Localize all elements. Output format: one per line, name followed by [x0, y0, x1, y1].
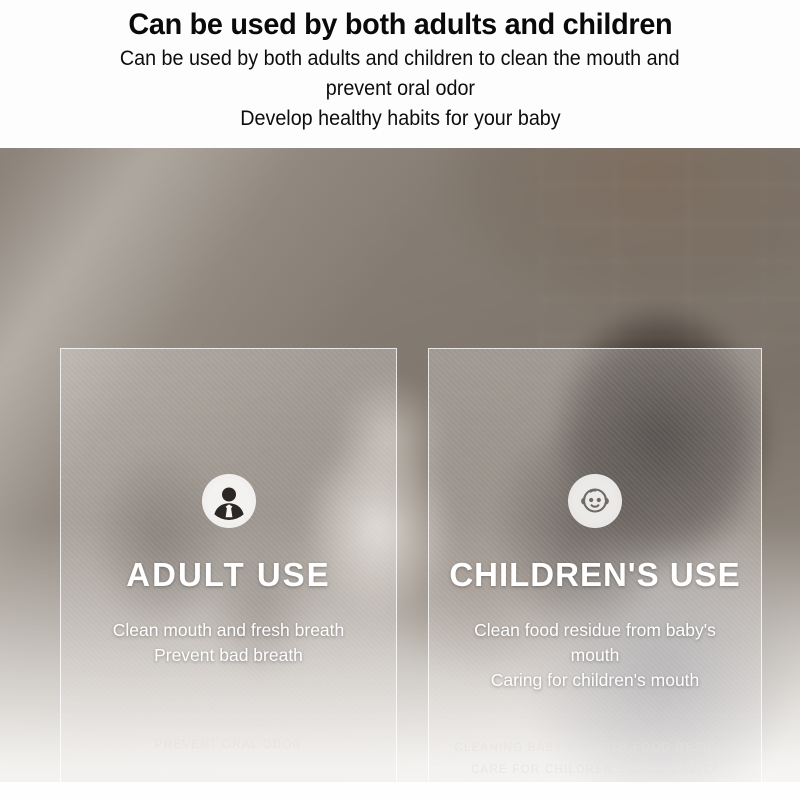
panel-adult-heading: ADULT USE [126, 556, 330, 594]
adult-avatar-icon [202, 474, 256, 528]
panel-children-heading: CHILDREN'S USE [449, 556, 740, 594]
lifestyle-photo-stage: ADULT USE Clean mouth and fresh breath P… [0, 148, 800, 782]
panel-children-caption-line-1: CLEANING BABY'S MOUTH FOOD RESIDUE [437, 737, 753, 759]
panel-adult-caption: CLEAN MOUTH AND REFRESHING BREATH. PREVE… [61, 712, 396, 756]
panel-adult-body: Clean mouth and fresh breath Prevent bad… [61, 618, 396, 668]
panel-children-body-line-1: Clean food residue from baby's [455, 618, 735, 643]
page-title: Can be used by both adults and children [128, 6, 672, 44]
header-subtitle-line-2: prevent oral odor [325, 74, 474, 104]
panel-children-body-line-2: mouth [455, 643, 735, 668]
panel-children-caption: CLEANING BABY'S MOUTH FOOD RESIDUE CARE … [429, 737, 761, 781]
panel-children-body: Clean food residue from baby's mouth Car… [429, 618, 761, 693]
panel-adult-caption-line-1: CLEAN MOUTH AND REFRESHING BREATH. [69, 712, 388, 734]
footer-strip [0, 782, 800, 800]
header-subtitle-line-1: Can be used by both adults and children … [120, 44, 680, 74]
panel-adult-body-line-1: Clean mouth and fresh breath [75, 618, 382, 643]
baby-face-icon [568, 474, 622, 528]
panel-children-caption-line-2: CARE FOR CHILDREN'S ORAL CAVITY [437, 759, 753, 781]
panel-adult-body-line-2: Prevent bad breath [75, 643, 382, 668]
panel-adult-caption-line-2: PREVENT ORAL ODOR [69, 734, 388, 756]
panel-adult-use: ADULT USE Clean mouth and fresh breath P… [60, 348, 397, 782]
panel-children-use: CHILDREN'S USE Clean food residue from b… [428, 348, 762, 782]
panel-children-body-line-3: Caring for children's mouth [455, 668, 735, 693]
header-subtitle-line-3: Develop healthy habits for your baby [240, 104, 560, 134]
product-infographic: Can be used by both adults and children … [0, 0, 800, 800]
header-block: Can be used by both adults and children … [0, 0, 800, 148]
